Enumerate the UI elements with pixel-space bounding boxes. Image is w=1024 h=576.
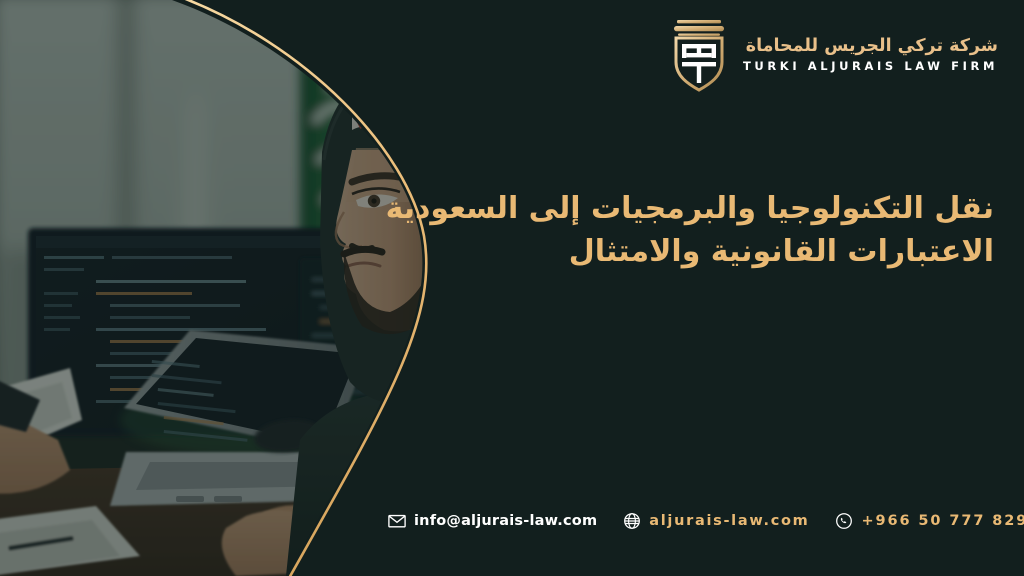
phone-value: +966 50 777 8294 [861, 514, 1024, 529]
globe-icon [623, 512, 641, 530]
website-value: aljurais-law.com [649, 514, 809, 529]
whatsapp-icon [835, 512, 853, 530]
banner: شركة تركي الجريس للمحاماة TURKI ALJURAIS… [0, 0, 1024, 576]
logo-wordmark: شركة تركي الجريس للمحاماة TURKI ALJURAIS… [743, 38, 998, 72]
headline-line-1: نقل التكنولوجيا والبرمجيات إلى السعودية [374, 188, 994, 231]
contact-phone[interactable]: +966 50 777 8294 [835, 512, 1024, 530]
headline: نقل التكنولوجيا والبرمجيات إلى السعودية … [374, 188, 994, 273]
contact-email[interactable]: info@aljurais-law.com [388, 512, 597, 530]
contact-bar: info@aljurais-law.com aljurais-law.com +… [388, 512, 1024, 530]
email-value: info@aljurais-law.com [414, 514, 597, 529]
contact-website[interactable]: aljurais-law.com [623, 512, 809, 530]
logo-name-arabic: شركة تركي الجريس للمحاماة [746, 38, 998, 56]
shield-column-monogram-icon [668, 18, 730, 92]
brand-logo[interactable]: شركة تركي الجريس للمحاماة TURKI ALJURAIS… [668, 18, 998, 92]
headline-line-2: الاعتبارات القانونية والامتثال [374, 231, 994, 274]
logo-name-english: TURKI ALJURAIS LAW FIRM [743, 61, 998, 73]
envelope-icon [388, 512, 406, 530]
